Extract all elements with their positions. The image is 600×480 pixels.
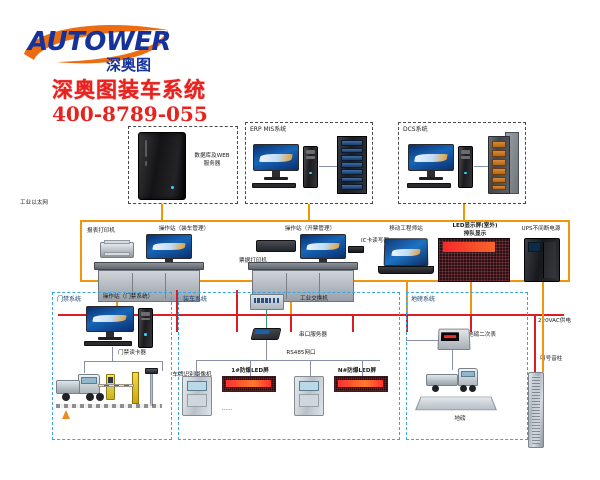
ws-access-label: 操作站（门禁系统） [88,294,168,301]
architecture-diagram: ERP MIS系统 DCS系统 数据库及WEB服务器 [0,110,600,470]
erp-keyboard [252,183,296,188]
svg-text:深奥图: 深奥图 [106,56,151,74]
mobile-engineer-label: 移动工程师站 [378,226,434,233]
audio-column [528,372,544,448]
industrial-switch-label: 工业交换机 [288,296,340,303]
serial-server-label: 串口服务器 [288,332,338,339]
led-outdoor-label: LED显示屏(室外)排队显示 [438,222,512,238]
db-web-server-tower [138,132,186,200]
led-ex-n-board [334,376,388,392]
group-loading-label: 装车系统 [183,296,207,304]
rs485-drop-bay1-term [196,360,197,376]
mobile-engineer-laptop [378,238,434,282]
bay-ellipsis-label: …… [214,406,240,413]
group-erp-label: ERP MIS系统 [250,126,286,134]
indicator-to-deck [452,350,453,370]
ws-access-keyboard [84,341,132,346]
access-camera-drop [162,361,163,371]
group-dcs-label: DCS系统 [403,126,428,134]
drop-erp [308,204,310,220]
ws-access-monitor [86,306,134,340]
industrial-switch [250,294,284,310]
access-branch-vertical [112,347,113,361]
erp-monitor [253,144,299,182]
barrier-gate-post [132,372,139,404]
scale-indicator [437,329,470,350]
db-web-server-label: 数据库及WEB服务器 [190,152,234,168]
audio-column-label: 叫号音柱 [540,356,590,363]
ups-unit [524,238,560,282]
dcs-pc-tower [458,146,473,188]
dcs-keyboard [407,183,451,188]
dcs-monitor [408,144,454,182]
led-ex-n-label: N#防爆LED屏 [328,368,386,375]
invoice-printer [256,240,296,252]
plate-camera-pole [150,372,153,406]
rs485-trunk [196,360,380,361]
dcs-cabinet-link [474,166,488,167]
dcs-control-cabinet [488,136,510,194]
weighbridge-truck [424,368,486,398]
serial-server [251,328,282,340]
traffic-cone-icon [62,410,70,419]
group-loading: 装车系统 [178,292,400,440]
erp-rack-link [319,166,337,167]
access-card-reader-label: 门禁读卡器 [108,350,156,357]
svg-text:AUTOWER: AUTOWER [26,27,171,57]
autower-logo-svg: AUTOWER 深奥图 [18,14,188,76]
report-printer [100,242,134,258]
brand-logo: AUTOWER 深奥图 [18,14,188,76]
switch-to-serial-link [266,310,267,328]
ws-loading-label: 操作站（装车管理） [146,226,222,233]
plate-camera-body [145,368,158,374]
serial-to-rs485-drop [266,340,267,360]
ws-access-pc [138,308,153,348]
drop-server [161,204,163,220]
bay-1-terminal [182,376,212,416]
rs485-drop-bayn-term [310,360,311,376]
barrier-gate-arm [98,384,134,387]
group-weighbridge-label: 地磅系统 [411,296,435,304]
erp-pc-tower [303,146,318,188]
led-marquee-text [443,242,495,251]
access-road-strip [56,404,162,408]
industrial-ethernet-label: 工业以太网 [20,200,80,207]
audio-signal-feed [542,314,544,372]
power-label: 220VAC供电 [538,318,598,325]
access-branch-horizontal [84,361,162,362]
erp-server-rack [337,136,367,194]
led-outdoor-board [438,238,510,282]
access-card-reader [106,374,115,400]
ws-invoice-desk-top [248,262,358,270]
power-feed-audio [534,314,536,372]
drop-dcs [463,204,465,220]
bay-n-terminal [294,376,324,416]
drop-ups [542,282,544,314]
group-access-label: 门禁系统 [57,296,81,304]
weighbridge-net-link [406,340,440,341]
ws-invoice-label: 操作站（开票管理） [272,226,348,233]
ic-card-rw [348,246,364,253]
ups-label: UPS不间断电源 [512,226,570,233]
rs485-drop-bayn-led [362,360,363,376]
weighbridge-deck [415,397,497,411]
report-printer-label: 报表打印机 [76,228,126,235]
weighbridge-deck-label: 地磅 [448,416,472,423]
rs485-drop-bay1-led [250,360,251,376]
ws-loading-desk-top [94,262,204,270]
rs485-label: RS485网口 [278,350,324,357]
led-ex-1-board [222,376,276,392]
system-title: 深奥图装车系统 [52,78,208,102]
